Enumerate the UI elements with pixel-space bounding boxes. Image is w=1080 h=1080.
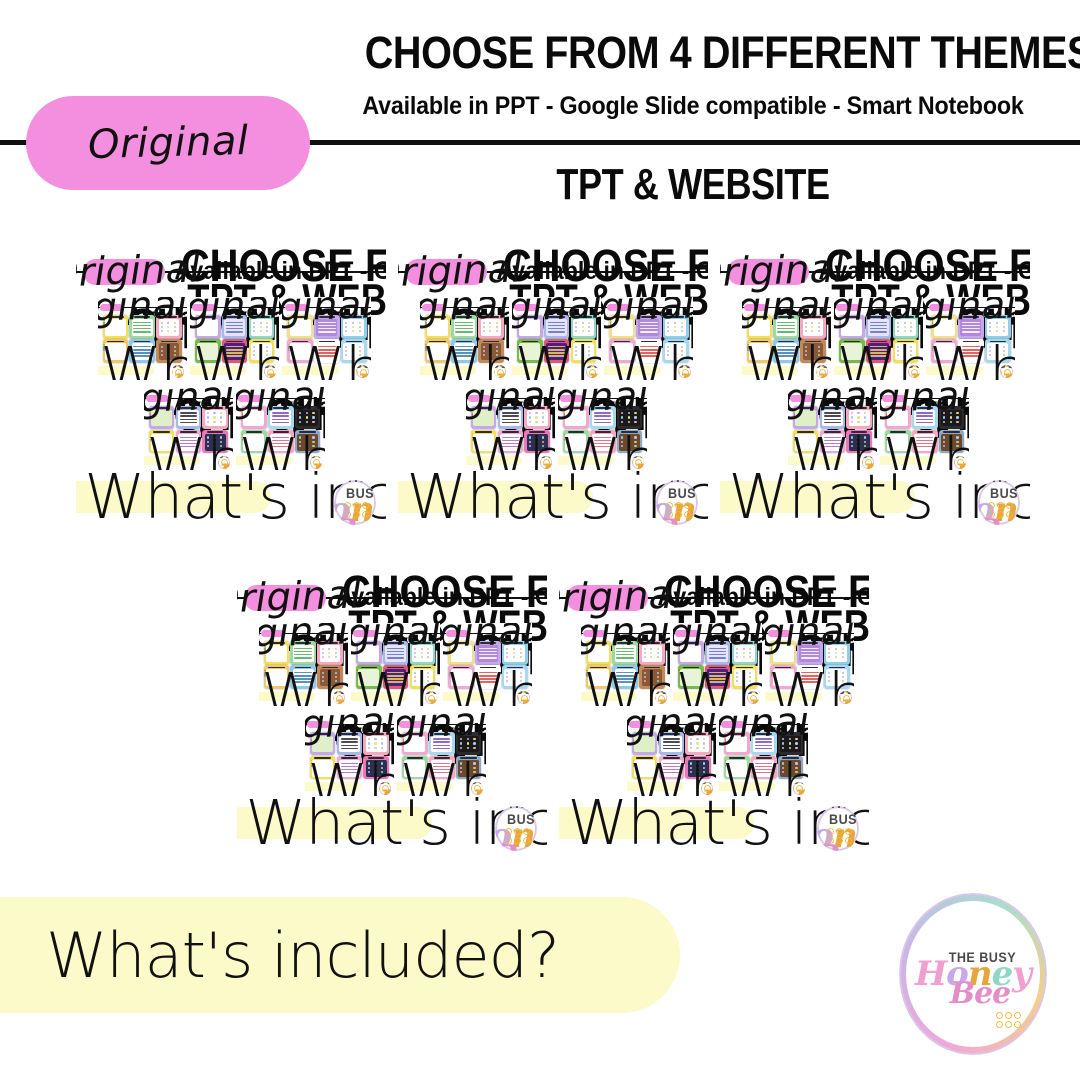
whats-included-banner: What's included? [719,782,775,791]
theme-badge-label: Original [558,387,647,423]
thumbnail-item[interactable]: OriginalCHOOSE FROM 4 DIFFERENT THEMES:A… [466,387,555,470]
logo-inner: THE BUSYHoneyBee [336,482,374,523]
theme-badge-original[interactable]: Original [514,304,537,311]
mini-poster: OriginalCHOOSE FROM 4 DIFFERENT THEMES:A… [236,387,325,470]
brand-logo: THE BUSYHoneyBee [379,782,391,795]
brand-logo: THE BUSYHoneyBee [334,480,376,525]
honeycomb-icon [343,501,369,518]
theme-badge-label: Original [351,623,440,659]
mini-poster: OriginalCHOOSE FROM 4 DIFFERENT THEMES:A… [398,232,708,532]
whats-included-banner: What's included? [466,456,522,465]
logo-word-bee: Bee [978,517,1020,525]
whats-included-banner: What's included? [420,366,476,375]
mini-poster: OriginalCHOOSE FROM 4 DIFFERENT THEMES:A… [237,558,547,858]
whats-included-banner: What's included? [76,481,271,513]
honeycomb-icon [504,827,530,844]
thumbnail-item[interactable]: OriginalCHOOSE FROM 4 DIFFERENT THEMES:A… [765,623,854,706]
honeycomb-icon [264,365,274,375]
thumbnail-item[interactable]: OriginalCHOOSE FROM 4 DIFFERENT THEMES:A… [512,297,601,380]
brand-logo: THE BUSYHoneyBee [793,782,805,795]
whats-included-banner: What's included? [604,366,660,375]
thumbnail-item[interactable]: OriginalCHOOSE FROM 4 DIFFERENT THEMES:A… [351,623,440,706]
theme-badge-label: Original [190,297,279,333]
whats-included-label: What's included? [0,919,559,992]
mini-poster: OriginalCHOOSE FROM 4 DIFFERENT THEMES:A… [581,623,670,706]
brand-logo: THE BUSYHoneyBee [540,456,552,469]
logo-inner: THE BUSYHoneyBee [219,457,230,468]
thumbnail-item[interactable]: OriginalCHOOSE FROM 4 DIFFERENT THEMES:A… [788,387,877,470]
theme-badge-original[interactable]: Original [929,304,952,311]
thumbnail-grid: OriginalCHOOSE FROM 4 DIFFERENT THEMES:A… [0,222,1080,882]
logo-inner: THE BUSYHoneyBee [658,482,696,523]
theme-badge-original[interactable]: Original [607,304,630,311]
whats-included-banner: What's included? [627,782,683,791]
thumbnail-item[interactable]: OriginalCHOOSE FROM 4 DIFFERENT THEMES:A… [834,297,923,380]
brand-logo: THE BUSYHoneyBee [425,691,437,704]
honeycomb-icon [425,691,435,701]
logo-tagline: THE BUSY [990,480,1021,501]
brand-logo: THE BUSYHoneyBee [333,691,345,704]
theme-badge-original[interactable]: Original [405,259,487,285]
brand-logo: THE BUSY Honey Bee [899,893,1047,1055]
whats-included-banner: What's included? [443,692,499,701]
page-title: CHOOSE FROM 4 DIFFERENT THEMES: [365,30,1021,75]
honeycomb-icon [987,501,1013,518]
mini-poster: OriginalCHOOSE FROM 4 DIFFERENT THEMES:A… [604,297,693,380]
brand-logo: THE BUSYHoneyBee [1000,365,1012,378]
mini-poster: OriginalCHOOSE FROM 4 DIFFERENT THEMES:A… [512,297,601,380]
theme-badge-label: Original [788,387,877,423]
whats-included-banner: What's included? [880,456,936,465]
honeycomb-icon [954,456,964,466]
theme-badge-original[interactable]: Original [100,304,123,311]
honeycomb-icon [1000,365,1010,375]
logo-tagline: THE BUSY [829,806,860,827]
brand-logo: THE BUSYHoneyBee [656,480,698,525]
logo-tagline: THE BUSY [948,949,1015,965]
whats-included-banner: What's included? [581,692,637,701]
honeycomb-icon [793,782,803,792]
logo-inner: THE BUSYHoneyBee [497,808,535,849]
whats-included-banner: What's included? [559,807,754,839]
logo-tagline: THE BUSY [668,480,699,501]
logo-tagline: THE BUSY [346,480,377,501]
logo-inner: THE BUSYHoneyBee [472,783,483,794]
theme-badge-label: Original [98,297,187,333]
thumbnail-item[interactable]: OriginalCHOOSE FROM 4 DIFFERENT THEMES:A… [880,387,969,470]
theme-badge-original[interactable]: Original [836,304,859,311]
brand-logo: THE BUSYHoneyBee [954,456,966,469]
theme-badge-label: Original [834,297,923,333]
theme-badge-original[interactable]: Original [744,304,767,311]
mini-poster: OriginalCHOOSE FROM 4 DIFFERENT THEMES:A… [190,297,279,380]
thumbnail-item[interactable]: OriginalCHOOSE FROM 4 DIFFERENT THEMES:A… [305,713,394,796]
logo-inner: THE BUSYHoneyBee [357,366,368,377]
mini-poster: OriginalCHOOSE FROM 4 DIFFERENT THEMES:A… [559,558,869,858]
theme-badge-label: Original [237,573,362,623]
logo-word-bee: Bee [817,843,859,851]
brand-logo: THE BUSYHoneyBee [356,365,368,378]
honeycomb-icon [839,691,849,701]
brand-logo: THE BUSYHoneyBee [701,782,713,795]
mini-poster: OriginalCHOOSE FROM 4 DIFFERENT THEMES:A… [98,297,187,380]
theme-badge-original[interactable]: Original [566,585,648,611]
logo-inner: THE BUSYHoneyBee [748,692,759,703]
poster-root: Original CHOOSE FROM 4 DIFFERENT THEMES:… [0,0,1080,1080]
mini-poster: OriginalCHOOSE FROM 4 DIFFERENT THEMES:A… [627,713,716,796]
thumbnail-item[interactable]: OriginalCHOOSE FROM 4 DIFFERENT THEMES:A… [627,713,716,796]
theme-badge-original[interactable]: Original [790,395,813,402]
brand-logo: THE BUSYHoneyBee [908,365,920,378]
theme-badge-label: Original [581,623,670,659]
theme-badge-label: Original [282,297,371,333]
brand-logo: THE BUSYHoneyBee [310,456,322,469]
mini-poster: OriginalCHOOSE FROM 4 DIFFERENT THEMES:A… [880,387,969,470]
honeycomb-icon [494,365,504,375]
thumbnail-item[interactable]: OriginalCHOOSE FROM 4 DIFFERENT THEMES:A… [720,232,1030,532]
theme-badge-original[interactable]: Original [307,721,330,728]
brand-logo: THE BUSYHoneyBee [655,691,667,704]
brand-logo: THE BUSYHoneyBee [978,480,1020,525]
honeycomb-icon [379,782,389,792]
logo-word-bee: Bee [656,517,698,525]
thumbnail-item[interactable]: OriginalCHOOSE FROM 4 DIFFERENT THEMES:A… [76,232,386,532]
thumbnail-item[interactable]: OriginalCHOOSE FROM 4 DIFFERENT THEMES:A… [144,387,233,470]
theme-badge-original[interactable]: Original [446,630,469,637]
theme-badge-label: Original [76,247,201,297]
whats-included-banner: What's included? [673,692,729,701]
whats-included-banner: What's included? [788,456,844,465]
theme-badge-label: Original [87,118,249,168]
mini-poster: OriginalCHOOSE FROM 4 DIFFERENT THEMES:A… [720,232,1030,532]
mini-poster: OriginalCHOOSE FROM 4 DIFFERENT THEMES:A… [259,623,348,706]
theme-badge-label: Original [144,387,233,423]
theme-badge-original[interactable]: Original [285,304,308,311]
logo-inner: THE BUSYHoneyBee [819,808,857,849]
theme-badge-label: Original [443,623,532,659]
mini-poster: OriginalCHOOSE FROM 4 DIFFERENT THEMES:A… [765,623,854,706]
brand-logo: THE BUSYHoneyBee [839,691,851,704]
theme-badge-original[interactable]: Original [560,395,583,402]
theme-badge-label: Original [259,623,348,659]
mini-poster: OriginalCHOOSE FROM 4 DIFFERENT THEMES:A… [420,297,509,380]
mini-poster: OriginalCHOOSE FROM 4 DIFFERENT THEMES:A… [443,623,532,706]
thumbnail-item[interactable]: OriginalCHOOSE FROM 4 DIFFERENT THEMES:A… [581,623,670,706]
brand-logo: THE BUSYHoneyBee [264,365,276,378]
mini-poster: OriginalCHOOSE FROM 4 DIFFERENT THEMES:A… [742,297,831,380]
theme-badge-original[interactable]: Original [238,395,261,402]
theme-badge-original[interactable]: Original [26,96,310,190]
brand-logo: THE BUSYHoneyBee [817,806,859,851]
theme-badge-original[interactable]: Original [244,585,326,611]
mini-poster: OriginalCHOOSE FROM 4 DIFFERENT THEMES:A… [305,713,394,796]
honeycomb-icon [632,456,642,466]
thumbnail-item[interactable]: OriginalCHOOSE FROM 4 DIFFERENT THEMES:A… [259,623,348,706]
theme-badge-label: Original [720,247,845,297]
logo-inner: THE BUSYHoneyBee [655,692,666,703]
theme-badge-original[interactable]: Original [192,304,215,311]
theme-badge-original[interactable]: Original [399,721,422,728]
honeycomb-icon [471,782,481,792]
theme-badge-label: Original [604,297,693,333]
logo-inner: THE BUSYHoneyBee [380,783,391,794]
whats-included-banner: What's included? [397,782,453,791]
mini-poster: OriginalCHOOSE FROM 4 DIFFERENT THEMES:A… [282,297,371,380]
theme-badge-original[interactable]: Original [83,259,165,285]
honeycomb-icon [816,365,826,375]
theme-badge-label: Original [420,297,509,333]
thumbnail-item[interactable]: OriginalCHOOSE FROM 4 DIFFERENT THEMES:A… [398,232,708,532]
mini-poster: OriginalCHOOSE FROM 4 DIFFERENT THEMES:A… [719,713,808,796]
whats-included-banner: What's included? [742,366,798,375]
thumbnail-item[interactable]: OriginalCHOOSE FROM 4 DIFFERENT THEMES:A… [673,623,762,706]
honeycomb-icon [701,782,711,792]
theme-badge-original[interactable]: Original [422,304,445,311]
brand-logo: THE BUSYHoneyBee [494,365,506,378]
thumbnail-item[interactable]: OriginalCHOOSE FROM 4 DIFFERENT THEMES:A… [237,558,547,858]
whats-included-banner: What's included? [98,366,154,375]
brand-logo: THE BUSYHoneyBee [471,782,483,795]
whats-included-banner: What's included? [558,456,614,465]
honeycomb-icon [310,456,320,466]
honeycomb-icon [172,365,182,375]
logo-inner: THE BUSYHoneyBee [909,366,920,377]
theme-badge-label: Original [466,387,555,423]
brand-logo: THE BUSYHoneyBee [172,365,184,378]
brand-logo: THE BUSYHoneyBee [632,456,644,469]
logo-word-bee: Bee [950,980,1011,1007]
mini-poster: OriginalCHOOSE FROM 4 DIFFERENT THEMES:A… [926,297,1015,380]
whats-included-banner: What's included? [720,481,915,513]
theme-badge-original[interactable]: Original [583,630,606,637]
logo-inner: THE BUSYHoneyBee [816,366,827,377]
whats-included-banner: What's included? [259,692,315,701]
thumbnail-item[interactable]: OriginalCHOOSE FROM 4 DIFFERENT THEMES:A… [558,387,647,470]
honeycomb-icon [517,691,527,701]
mini-poster: OriginalCHOOSE FROM 4 DIFFERENT THEMES:A… [466,387,555,470]
theme-badge-original[interactable]: Original [768,630,791,637]
whats-included-banner: What's included? [237,807,432,839]
whats-included-banner: What's included? [0,897,680,1013]
logo-inner: THE BUSYHoneyBee [518,692,529,703]
logo-inner: THE BUSYHoneyBee [679,366,690,377]
honeycomb-icon [586,365,596,375]
whats-included-banner: What's included? [398,481,593,513]
brand-logo: THE BUSYHoneyBee [816,365,828,378]
thumbnail-item[interactable]: OriginalCHOOSE FROM 4 DIFFERENT THEMES:A… [443,623,532,706]
thumbnail-item[interactable]: OriginalCHOOSE FROM 4 DIFFERENT THEMES:A… [282,297,371,380]
mini-poster: OriginalCHOOSE FROM 4 DIFFERENT THEMES:A… [834,297,923,380]
theme-badge-original[interactable]: Original [629,721,652,728]
thumbnail-item[interactable]: OriginalCHOOSE FROM 4 DIFFERENT THEMES:A… [236,387,325,470]
thumbnail-item[interactable]: OriginalCHOOSE FROM 4 DIFFERENT THEMES:A… [420,297,509,380]
brand-logo: THE BUSYHoneyBee [678,365,690,378]
whats-included-banner: What's included? [190,366,246,375]
logo-tagline: THE BUSY [507,806,538,827]
theme-badge-label: Original [719,713,808,749]
whats-included-banner: What's included? [512,366,568,375]
mini-poster: OriginalCHOOSE FROM 4 DIFFERENT THEMES:A… [144,387,233,470]
brand-logo: THE BUSYHoneyBee [747,691,759,704]
honeycomb-icon [333,691,343,701]
whats-included-banner: What's included? [236,456,292,465]
theme-badge-label: Original [627,713,716,749]
theme-badge-original[interactable]: Original [721,721,744,728]
logo-inner: THE BUSYHoneyBee [311,457,322,468]
whats-included-banner: What's included? [834,366,890,375]
thumbnail-item[interactable]: OriginalCHOOSE FROM 4 DIFFERENT THEMES:A… [559,558,869,858]
theme-badge-label: Original [880,387,969,423]
page-subtitle: Available in PPT - Google Slide compatib… [344,92,1042,121]
honeycomb-icon [356,365,366,375]
theme-badge-original[interactable]: Original [353,630,376,637]
logo-inner: THE BUSYHoneyBee [863,457,874,468]
theme-badge-label: Original [398,247,523,297]
theme-badge-original[interactable]: Original [727,259,809,285]
logo-inner: THE BUSYHoneyBee [426,692,437,703]
brand-logo: THE BUSYHoneyBee [495,806,537,851]
theme-badge-label: Original [305,713,394,749]
brand-logo: THE BUSYHoneyBee [517,691,529,704]
mini-poster: OriginalCHOOSE FROM 4 DIFFERENT THEMES:A… [558,387,647,470]
theme-badge-label: Original [397,713,486,749]
thumbnail-item[interactable]: OriginalCHOOSE FROM 4 DIFFERENT THEMES:A… [190,297,279,380]
theme-badge-label: Original [236,387,325,423]
mini-poster: OriginalCHOOSE FROM 4 DIFFERENT THEMES:A… [397,713,486,796]
logo-inner: THE BUSYHoneyBee [980,482,1018,523]
theme-badge-label: Original [742,297,831,333]
honeycomb-icon [665,501,691,518]
theme-badge-original[interactable]: Original [882,395,905,402]
honeycomb-icon [862,456,872,466]
theme-badge-original[interactable]: Original [146,395,169,402]
logo-inner: THE BUSYHoneyBee [172,366,183,377]
honeycomb-icon [826,827,852,844]
honeycomb-icon [218,456,228,466]
thumbnail-item[interactable]: OriginalCHOOSE FROM 4 DIFFERENT THEMES:A… [719,713,808,796]
mini-poster: OriginalCHOOSE FROM 4 DIFFERENT THEMES:A… [76,232,386,532]
theme-badge-label: Original [512,297,601,333]
logo-inner: THE BUSYHoneyBee [587,366,598,377]
honeycomb-icon [995,1011,1021,1028]
theme-badge-original[interactable]: Original [675,630,698,637]
logo-inner: THE BUSYHoneyBee [1001,366,1012,377]
theme-badge-label: Original [926,297,1015,333]
logo-inner: THE BUSYHoneyBee [333,692,344,703]
theme-badge-original[interactable]: Original [468,395,491,402]
brand-logo: THE BUSYHoneyBee [586,365,598,378]
whats-included-banner: What's included? [765,692,821,701]
brand-logo: THE BUSYHoneyBee [862,456,874,469]
mini-poster: OriginalCHOOSE FROM 4 DIFFERENT THEMES:A… [788,387,877,470]
theme-badge-label: Original [673,623,762,659]
theme-badge-label: Original [765,623,854,659]
honeycomb-icon [747,691,757,701]
honeycomb-icon [655,691,665,701]
logo-inner: THE BUSYHoneyBee [265,366,276,377]
thumbnail-item[interactable]: OriginalCHOOSE FROM 4 DIFFERENT THEMES:A… [604,297,693,380]
logo-inner: THE BUSYHoneyBee [541,457,552,468]
logo-inner: THE BUSYHoneyBee [633,457,644,468]
thumbnail-item[interactable]: OriginalCHOOSE FROM 4 DIFFERENT THEMES:A… [397,713,486,796]
whats-included-banner: What's included? [282,366,338,375]
logo-inner: THE BUSYHoneyBee [494,366,505,377]
mini-poster: OriginalCHOOSE FROM 4 DIFFERENT THEMES:A… [673,623,762,706]
mini-poster: OriginalCHOOSE FROM 4 DIFFERENT THEMES:A… [351,623,440,706]
logo-word-bee: Bee [495,843,537,851]
theme-badge-label: Original [559,573,684,623]
honeycomb-icon [678,365,688,375]
honeycomb-icon [908,365,918,375]
honeycomb-icon [540,456,550,466]
whats-included-banner: What's included? [926,366,982,375]
whats-included-banner: What's included? [305,782,361,791]
theme-badge-original[interactable]: Original [261,630,284,637]
logo-inner: THE BUSYHoneyBee [794,783,805,794]
logo-word-bee: Bee [334,517,376,525]
logo-inner: THE BUSYHoneyBee [955,457,966,468]
whats-included-banner: What's included? [351,692,407,701]
logo-inner: THE BUSYHoneyBee [702,783,713,794]
thumbnail-item[interactable]: OriginalCHOOSE FROM 4 DIFFERENT THEMES:A… [926,297,1015,380]
brand-logo: THE BUSYHoneyBee [218,456,230,469]
thumbnail-item[interactable]: OriginalCHOOSE FROM 4 DIFFERENT THEMES:A… [98,297,187,380]
platform-heading: TPT & WEBSITE [387,160,999,210]
logo-inner: THE BUSY Honey Bee [906,901,1039,1047]
logo-inner: THE BUSYHoneyBee [840,692,851,703]
thumbnail-item[interactable]: OriginalCHOOSE FROM 4 DIFFERENT THEMES:A… [742,297,831,380]
whats-included-banner: What's included? [144,456,200,465]
